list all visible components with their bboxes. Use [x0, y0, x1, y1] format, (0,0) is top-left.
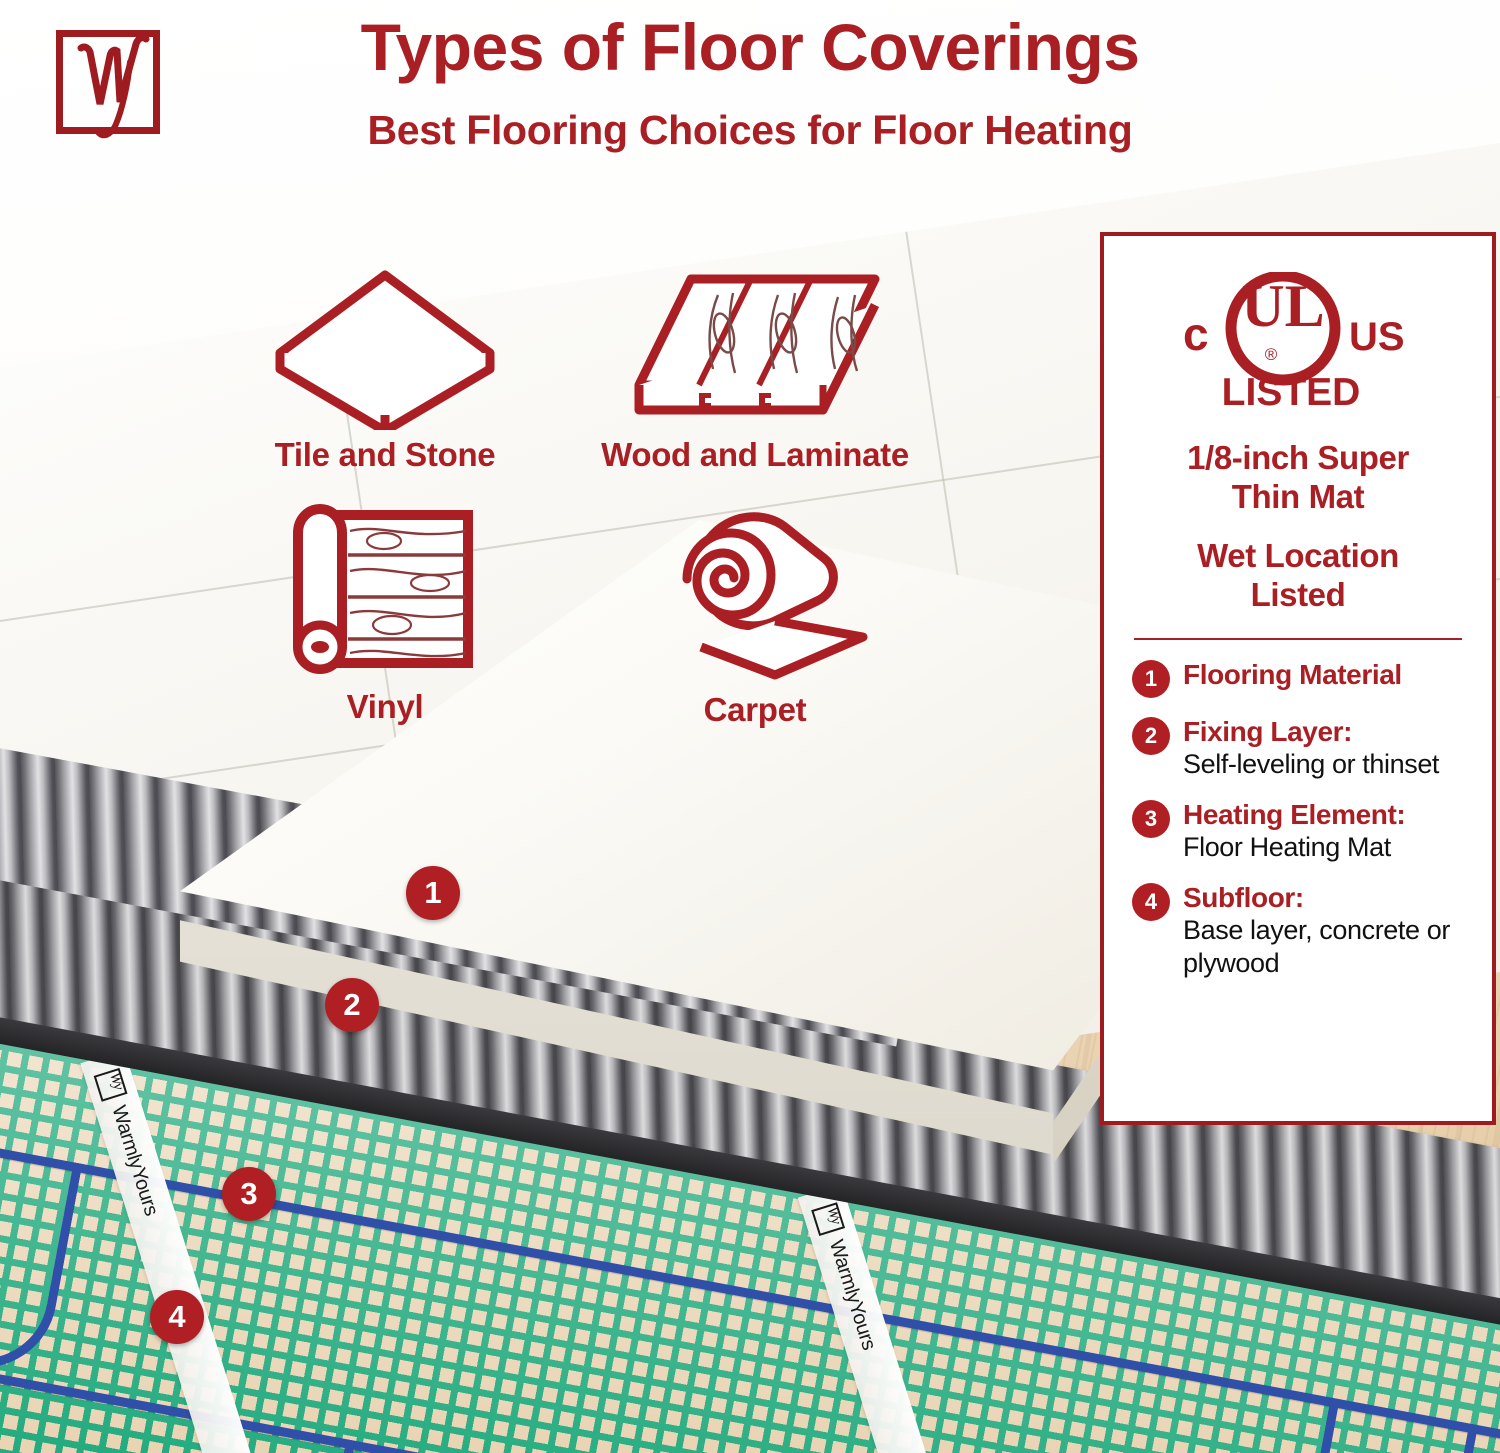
ul-suffix-us: US	[1349, 315, 1405, 359]
page-title: Types of Floor Coverings	[180, 8, 1320, 86]
tile-stone-icon	[270, 265, 500, 430]
spec-wet-location: Wet Location Listed	[1130, 536, 1466, 614]
legend-item-3: 3 Heating Element: Floor Heating Mat	[1132, 798, 1464, 864]
ul-listed-mark: c UL ® US LISTED	[1130, 272, 1466, 412]
legend-number-3: 3	[1132, 800, 1170, 838]
ul-listed-icon: c UL ® US LISTED	[1173, 272, 1423, 412]
page-subtitle: Best Flooring Choices for Floor Heating	[180, 104, 1320, 156]
legend-item-4: 4 Subfloor: Base layer, concrete or plyw…	[1132, 881, 1464, 980]
legend-number-4: 4	[1132, 883, 1170, 921]
legend-number-2: 2	[1132, 717, 1170, 755]
spec-line-3: Wet Location	[1130, 536, 1466, 575]
legend-title-1: Flooring Material	[1183, 658, 1464, 691]
legend-item-1: 1 Flooring Material	[1132, 658, 1464, 698]
legend-desc-4: Base layer, concrete or plywood	[1183, 914, 1464, 980]
panel-divider	[1134, 638, 1462, 640]
photo-callout-1: 1	[406, 866, 460, 920]
spec-thin-mat: 1/8-inch Super Thin Mat	[1130, 438, 1466, 516]
legend-desc-3: Floor Heating Mat	[1183, 831, 1464, 864]
spec-panel: c UL ® US LISTED 1/8-inch Super Thin Mat…	[1100, 232, 1496, 1125]
legend-title-2: Fixing Layer:	[1183, 715, 1464, 748]
wood-laminate-icon	[623, 265, 888, 430]
legend-item-2: 2 Fixing Layer: Self-leveling or thinset	[1132, 715, 1464, 781]
logo-wy-monogram-icon	[48, 22, 168, 140]
vinyl-roll-icon	[280, 497, 490, 682]
carpet-roll-icon	[625, 505, 885, 685]
spec-line-4: Listed	[1130, 575, 1466, 614]
ul-monogram: UL	[1241, 273, 1324, 339]
flooring-option-carpet[interactable]: Carpet	[610, 505, 900, 729]
infographic-canvas: WarmlyYours WarmlyYours WarmlyYours 1 2	[0, 0, 1500, 1453]
legend-body-1: Flooring Material	[1183, 658, 1464, 691]
legend-number-1: 1	[1132, 660, 1170, 698]
legend-body-2: Fixing Layer: Self-leveling or thinset	[1183, 715, 1464, 781]
flooring-option-vinyl[interactable]: Vinyl	[250, 497, 520, 726]
legend-title-3: Heating Element:	[1183, 798, 1464, 831]
flooring-type-icons: Tile and Stone Wood and Laminate	[230, 265, 950, 765]
photo-callout-2: 2	[325, 978, 379, 1032]
flooring-label-carpet: Carpet	[610, 691, 900, 729]
layer-legend-list: 1 Flooring Material 2 Fixing Layer: Self…	[1130, 658, 1466, 980]
warmlyyours-logo	[48, 22, 168, 140]
flooring-label-wood-laminate: Wood and Laminate	[560, 436, 950, 474]
spec-line-1: 1/8-inch Super	[1130, 438, 1466, 477]
header: Types of Floor Coverings Best Flooring C…	[0, 0, 1500, 200]
legend-body-4: Subfloor: Base layer, concrete or plywoo…	[1183, 881, 1464, 980]
flooring-option-wood-laminate[interactable]: Wood and Laminate	[560, 265, 950, 474]
photo-callout-3: 3	[222, 1167, 276, 1221]
legend-body-3: Heating Element: Floor Heating Mat	[1183, 798, 1464, 864]
legend-title-4: Subfloor:	[1183, 881, 1464, 914]
legend-desc-2: Self-leveling or thinset	[1183, 748, 1464, 781]
ul-prefix-c: c	[1183, 308, 1209, 360]
flooring-label-vinyl: Vinyl	[250, 688, 520, 726]
flooring-option-tile-stone[interactable]: Tile and Stone	[230, 265, 540, 474]
spec-line-2: Thin Mat	[1130, 477, 1466, 516]
photo-callout-4: 4	[150, 1290, 204, 1344]
ul-listed-text: LISTED	[1222, 371, 1361, 412]
ul-registered-mark: ®	[1265, 345, 1278, 364]
flooring-label-tile-stone: Tile and Stone	[230, 436, 540, 474]
